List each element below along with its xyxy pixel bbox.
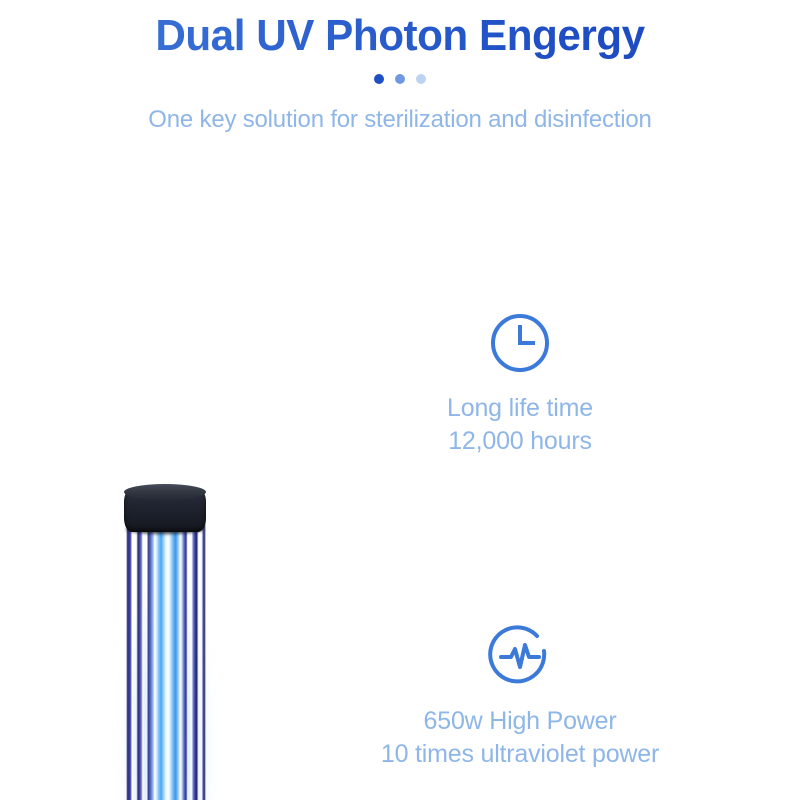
product-image <box>0 230 330 800</box>
feature-line-1: 650w High Power <box>340 705 700 738</box>
feature-line-2: 12,000 hours <box>340 425 700 458</box>
feature-item-high-power: 650w High Power 10 times ultraviolet pow… <box>340 623 700 770</box>
feature-list: Long life time 12,000 hours 650w High Po… <box>300 310 800 770</box>
promo-page: Dual UV Photon Engergy One key solution … <box>0 0 800 800</box>
uv-tubes <box>126 522 206 800</box>
carousel-dot-1[interactable] <box>374 74 384 84</box>
feature-line-1: Long life time <box>340 392 700 425</box>
feature-text-life-time: Long life time 12,000 hours <box>340 392 700 457</box>
page-header: Dual UV Photon Engergy One key solution … <box>0 0 800 136</box>
feature-item-life-time: Long life time 12,000 hours <box>340 310 700 457</box>
page-title: Dual UV Photon Engergy <box>16 0 784 60</box>
lamp-cap-top-ellipse <box>124 484 206 500</box>
clock-icon <box>487 310 553 376</box>
pulse-icon <box>487 623 553 689</box>
carousel-dots[interactable] <box>0 74 800 84</box>
carousel-dot-3[interactable] <box>416 74 426 84</box>
carousel-dot-2[interactable] <box>395 74 405 84</box>
feature-line-2: 10 times ultraviolet power <box>340 738 700 771</box>
feature-text-high-power: 650w High Power 10 times ultraviolet pow… <box>340 705 700 770</box>
page-subtitle: One key solution for sterilization and d… <box>140 104 660 136</box>
